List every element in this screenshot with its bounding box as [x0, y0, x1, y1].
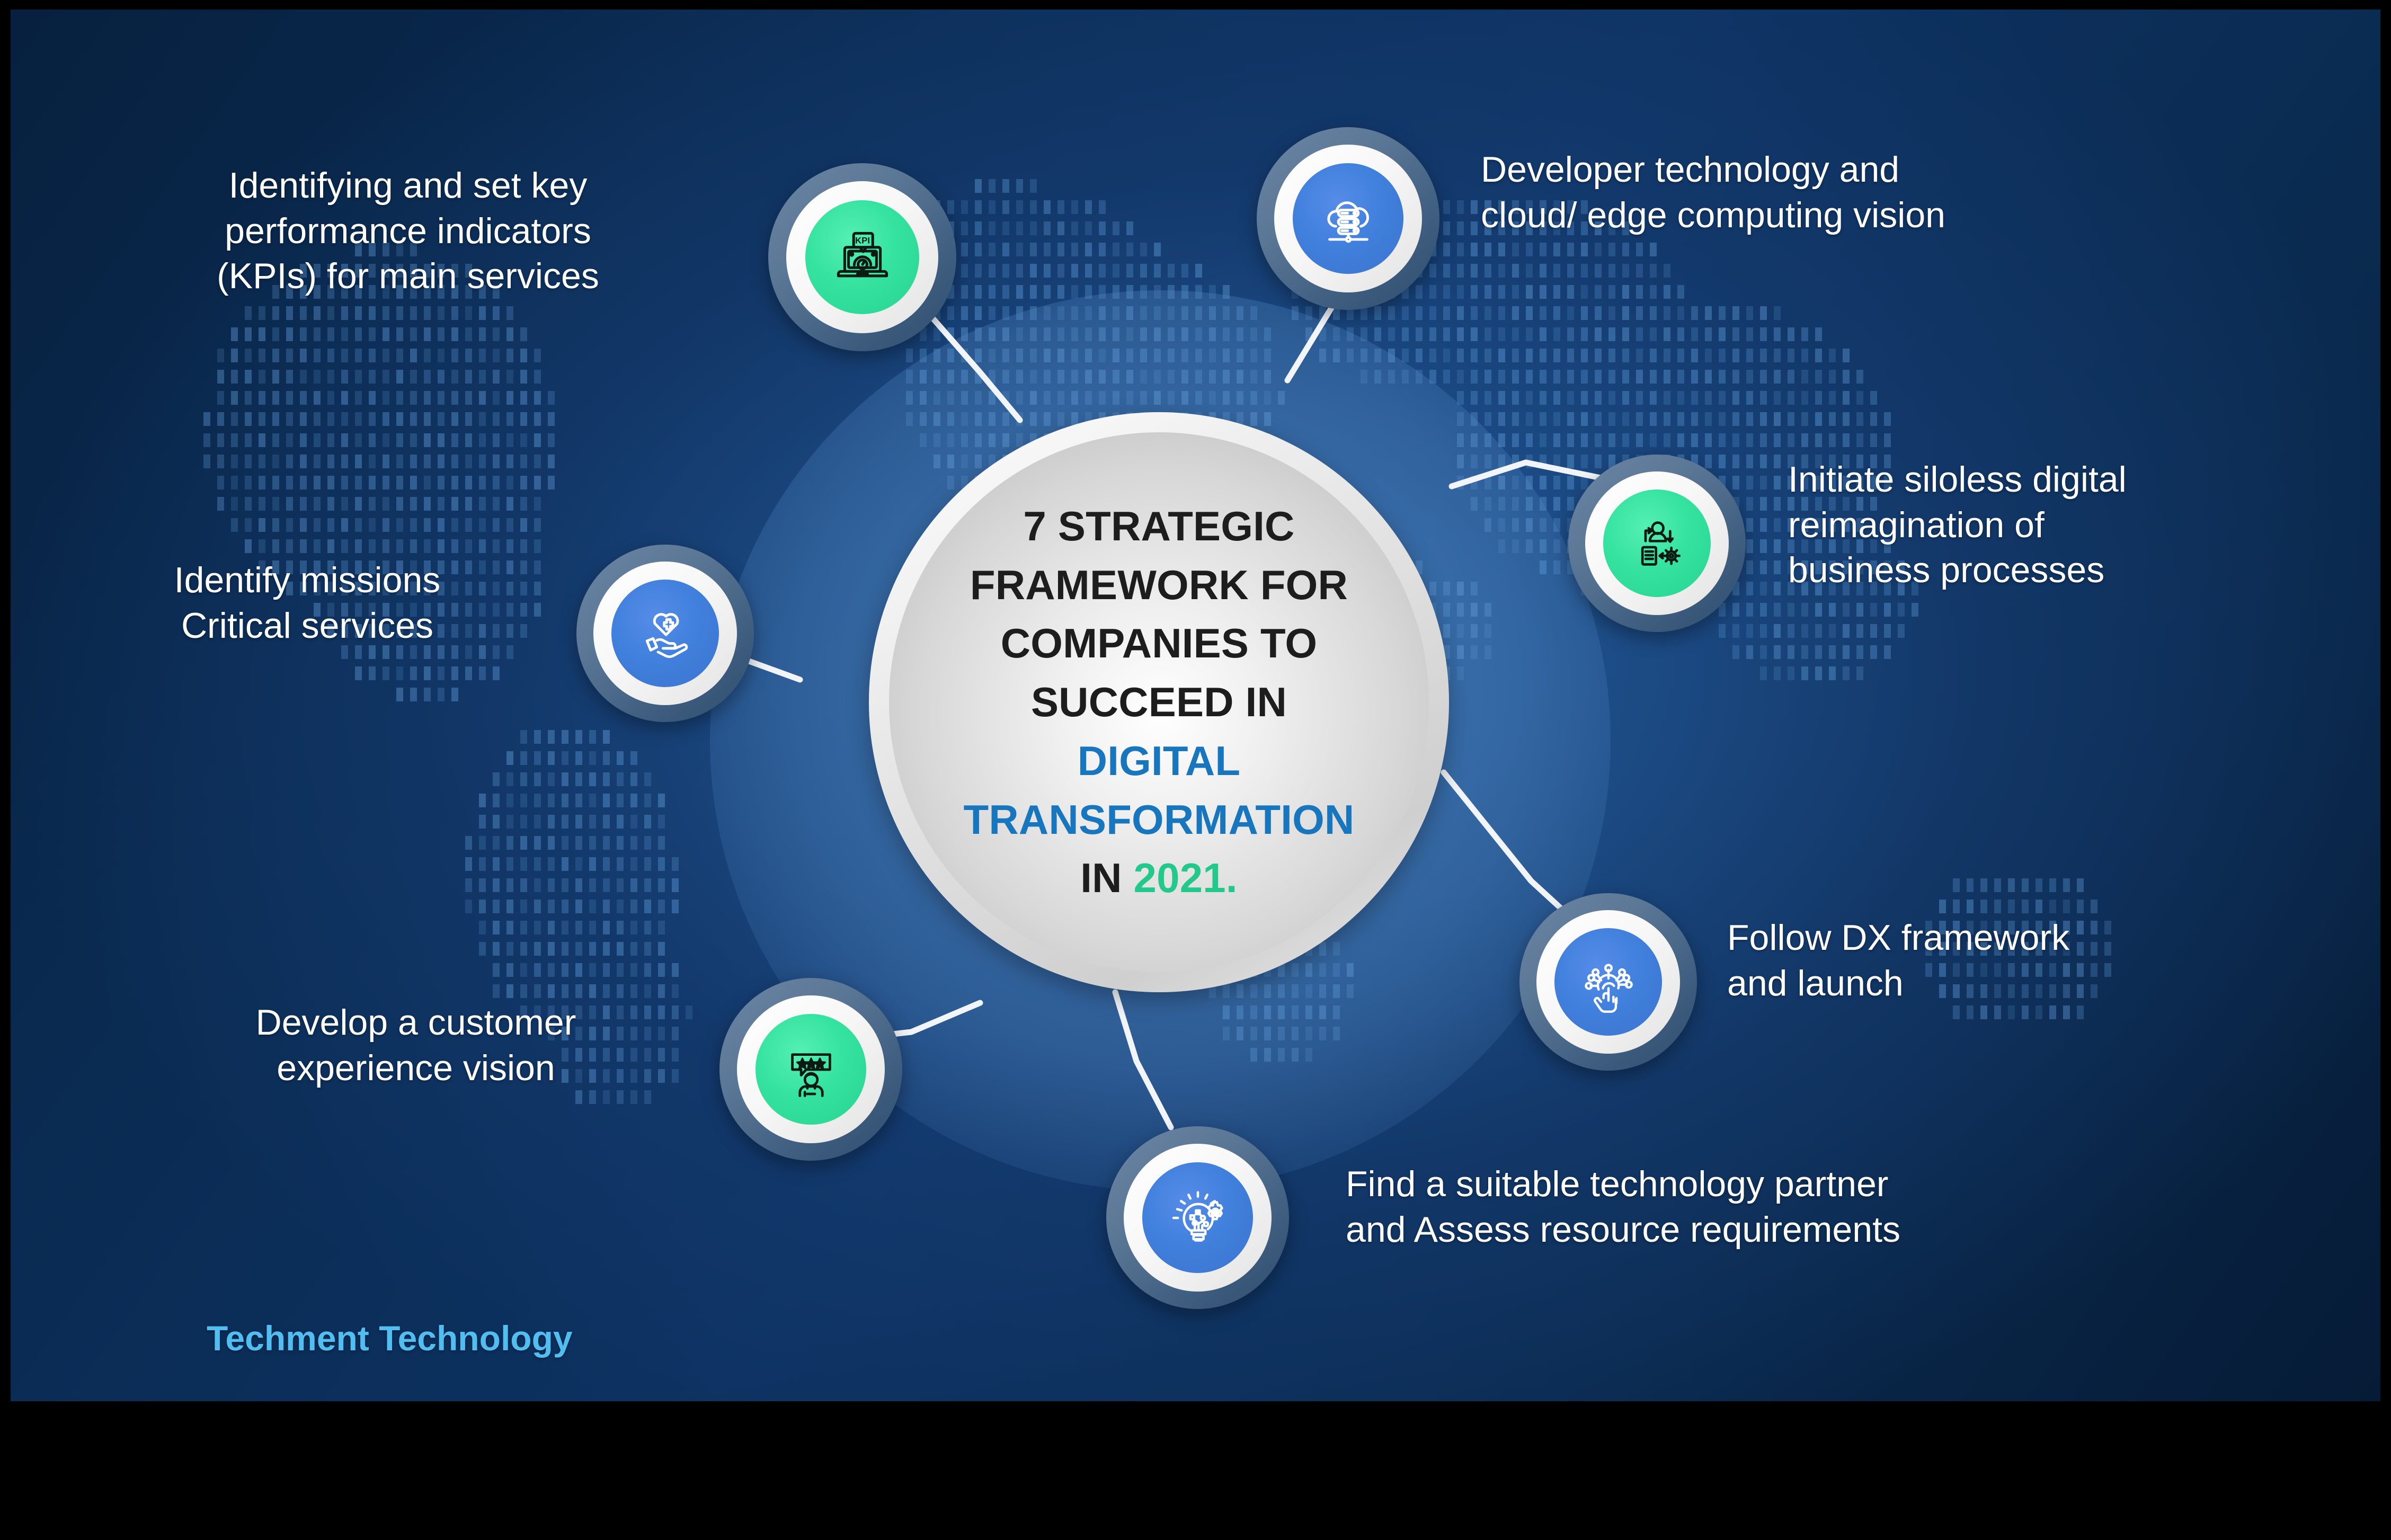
node-core [1603, 489, 1711, 597]
node-kpi[interactable]: KPI [768, 163, 956, 351]
hub-line-4-plain: SUCCEED IN [1031, 679, 1287, 725]
node-partner[interactable] [1106, 1126, 1289, 1309]
process-automation-icon [1626, 513, 1688, 574]
central-hub: 7 STRATEGIC FRAMEWORK FOR COMPANIES TO S… [869, 412, 1449, 992]
node-cloud[interactable] [1257, 127, 1439, 310]
cloud-server-icon [1317, 188, 1380, 250]
kpi-laptop-icon: KPI [831, 226, 894, 289]
hub-line-5: TRANSFORMATION [948, 790, 1370, 849]
node-core [1293, 163, 1403, 274]
hub-line-3: COMPANIES TO [948, 614, 1370, 673]
node-dx[interactable] [1519, 893, 1697, 1071]
label-kpi: Identifying and set key performance indi… [90, 163, 726, 299]
node-customer[interactable] [719, 978, 902, 1161]
node-siloless[interactable] [1568, 455, 1746, 632]
svg-text:KPI: KPI [855, 235, 869, 245]
node-missions[interactable] [576, 545, 754, 722]
node-core [611, 580, 719, 687]
label-cloud: Developer technology and cloud/ edge com… [1481, 147, 2307, 238]
node-core [1554, 928, 1662, 1036]
hub-line-1: 7 STRATEGIC [948, 497, 1370, 556]
hub-line-6: IN 2021. [948, 849, 1370, 907]
image-frame: 7 STRATEGIC FRAMEWORK FOR COMPANIES TO S… [0, 0, 2391, 1540]
hand-heart-care-icon [635, 603, 696, 664]
node-core [755, 1014, 866, 1125]
digital-touch-network-icon [1578, 951, 1639, 1013]
hub-line-6-accent: 2021. [1134, 854, 1238, 901]
connector-partner [1115, 992, 1171, 1127]
label-customer: Develop a customer experience vision [138, 1000, 694, 1091]
node-core: KPI [805, 200, 919, 314]
label-dx: Follow DX framework and launch [1727, 915, 2352, 1006]
hub-title: 7 STRATEGIC FRAMEWORK FOR COMPANIES TO S… [948, 497, 1370, 907]
idea-gear-bulb-icon [1167, 1187, 1229, 1249]
label-missions: Identify missions Critical services [53, 558, 562, 648]
customer-review-stars-icon [780, 1038, 842, 1101]
label-partner: Find a suitable technology partner and A… [1346, 1162, 2299, 1252]
hub-line-6-plain: IN [1080, 854, 1133, 901]
hub-line-2: FRAMEWORK FOR [948, 556, 1370, 615]
brand-name: Techment Technology [207, 1318, 573, 1358]
connector-dx [1444, 772, 1563, 910]
label-siloless: Initiate siloless digital reimagination … [1788, 457, 2371, 593]
hub-line-4-accent: DIGITAL [1078, 737, 1241, 784]
node-core [1142, 1162, 1253, 1273]
infographic-canvas: 7 STRATEGIC FRAMEWORK FOR COMPANIES TO S… [11, 10, 2380, 1401]
hub-line-4: SUCCEED IN DIGITAL [948, 673, 1370, 790]
